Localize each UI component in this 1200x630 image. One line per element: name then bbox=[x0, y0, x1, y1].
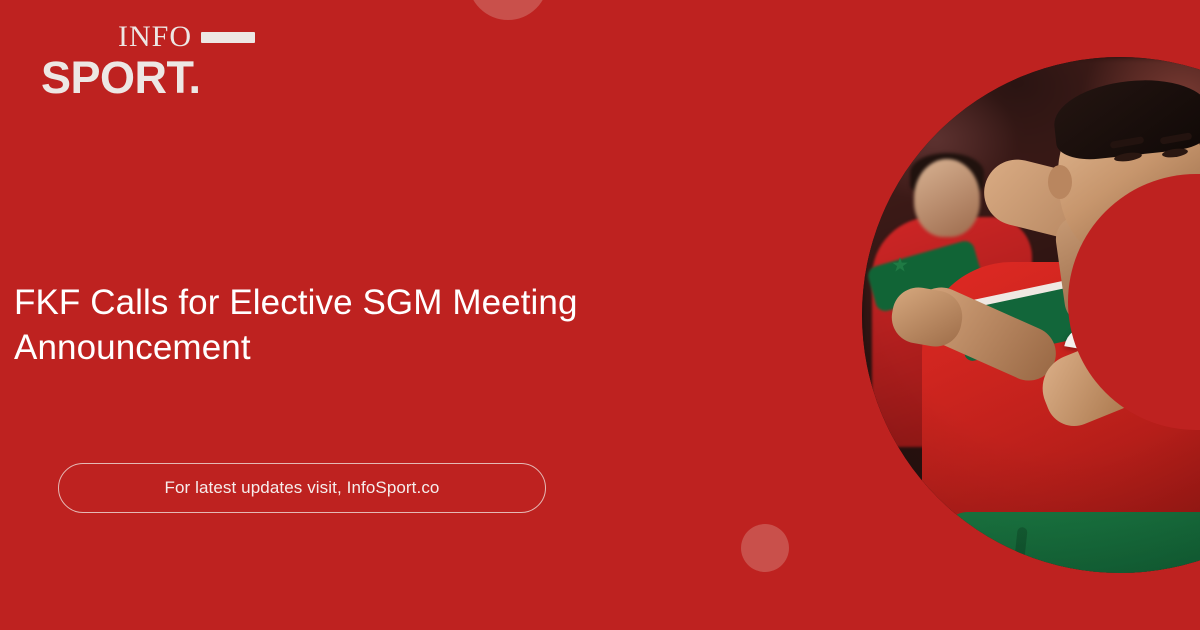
brand-logo-top-row: INFO bbox=[41, 21, 261, 53]
brand-logo[interactable]: INFO SPORT. bbox=[41, 21, 261, 100]
headline-title: FKF Calls for Elective SGM Meeting Annou… bbox=[14, 281, 714, 371]
cta-label: For latest updates visit, InfoSport.co bbox=[165, 478, 440, 498]
decorative-circle-bottom bbox=[741, 524, 789, 572]
brand-logo-info-text: INFO bbox=[118, 22, 192, 52]
logo-dash-icon bbox=[201, 32, 255, 43]
social-share-card: 2 2 INF bbox=[0, 0, 1200, 630]
brand-logo-sport-text: SPORT. bbox=[41, 55, 261, 100]
decorative-circle-top bbox=[468, 0, 548, 20]
cta-pill-button[interactable]: For latest updates visit, InfoSport.co bbox=[58, 463, 546, 513]
